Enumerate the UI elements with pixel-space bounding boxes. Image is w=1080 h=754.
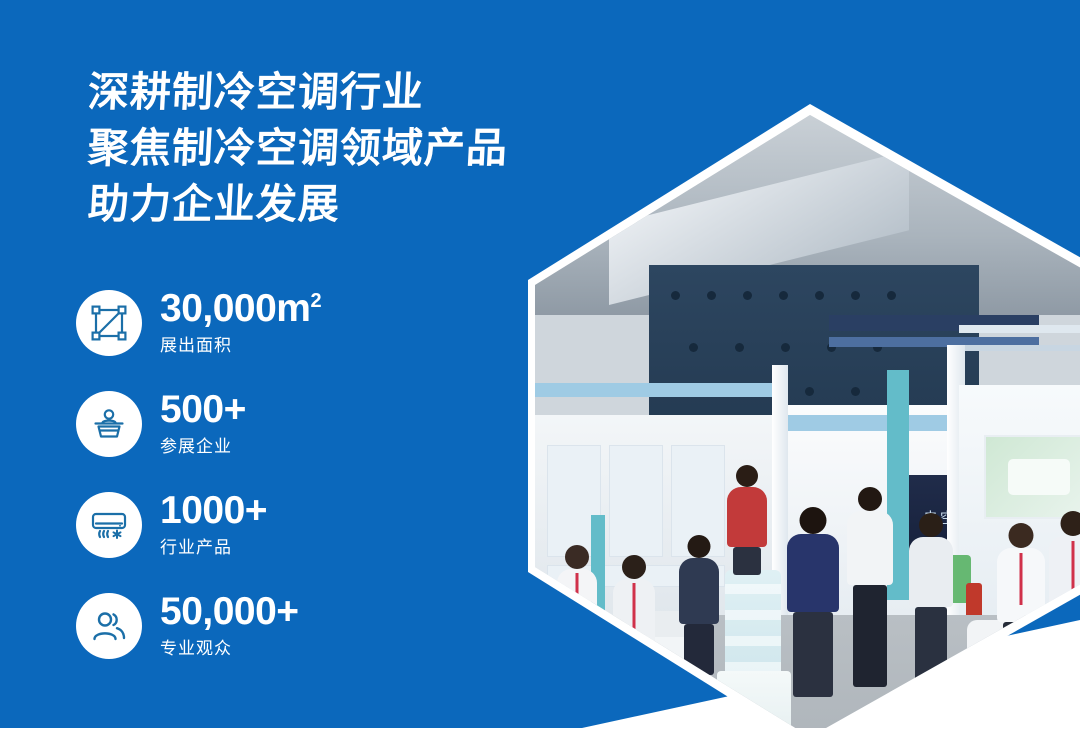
bottom-white-strip bbox=[0, 728, 1080, 754]
scene-booth-mid-band bbox=[779, 415, 949, 431]
stat-item-exhibition-area: 30,000m2 展出面积 bbox=[76, 287, 321, 359]
stat-text-visitors: 50,000+ 专业观众 bbox=[160, 591, 299, 661]
stat-text-products: 1000+ 行业产品 bbox=[160, 490, 267, 560]
stat-item-products: 1000+ 行业产品 bbox=[76, 489, 321, 561]
stat-value-exhibition-area: 30,000m2 bbox=[160, 288, 321, 329]
scene-person bbox=[679, 535, 719, 675]
stat-value-products: 1000+ bbox=[160, 490, 267, 531]
stat-value-visitors: 50,000+ bbox=[160, 591, 299, 632]
scene-booth-left-band bbox=[529, 383, 779, 397]
stat-number: 500+ bbox=[160, 388, 246, 431]
stat-number: 1000+ bbox=[160, 489, 267, 532]
exhibitor-booth-icon bbox=[76, 391, 142, 457]
stat-text-exhibition-area: 30,000m2 展出面积 bbox=[160, 288, 321, 358]
stat-label-exhibition-area: 展出面积 bbox=[160, 334, 321, 358]
scene-display-screen bbox=[984, 435, 1080, 519]
stat-item-visitors: 50,000+ 专业观众 bbox=[76, 590, 321, 662]
headline-line-1: 深耕制冷空调行业 bbox=[87, 64, 710, 120]
visitors-icon bbox=[76, 593, 142, 659]
stat-item-exhibitors: 500+ 参展企业 bbox=[76, 388, 321, 460]
scene-person bbox=[787, 507, 839, 697]
headline-block: 深耕制冷空调行业 聚焦制冷空调领域产品 助力企业发展 bbox=[88, 64, 708, 232]
stat-value-exhibitors: 500+ bbox=[160, 389, 246, 430]
stats-list: 30,000m2 展出面积 5 bbox=[76, 287, 321, 662]
stat-text-exhibitors: 500+ 参展企业 bbox=[160, 389, 246, 459]
stat-number: 50,000+ bbox=[160, 590, 299, 633]
poster-root: 深耕制冷空调行业 聚焦制冷空调领域产品 助力企业发展 bbox=[0, 0, 1080, 754]
headline-line-2: 聚焦制冷空调领域产品 bbox=[87, 120, 710, 176]
stat-label-products: 行业产品 bbox=[160, 536, 267, 560]
stat-number: 30,000m bbox=[160, 287, 310, 330]
exhibition-area-icon bbox=[76, 290, 142, 356]
scene-banner bbox=[959, 325, 1080, 333]
stat-label-exhibitors: 参展企业 bbox=[160, 435, 246, 459]
scene-person bbox=[727, 465, 767, 575]
headline-line-3: 助力企业发展 bbox=[87, 176, 710, 232]
scene-person bbox=[909, 513, 953, 683]
air-conditioner-icon bbox=[76, 492, 142, 558]
scene-banner-2 bbox=[959, 345, 1080, 351]
stat-label-visitors: 专业观众 bbox=[160, 637, 299, 661]
stat-superscript: 2 bbox=[310, 290, 321, 312]
scene-person bbox=[847, 487, 893, 687]
